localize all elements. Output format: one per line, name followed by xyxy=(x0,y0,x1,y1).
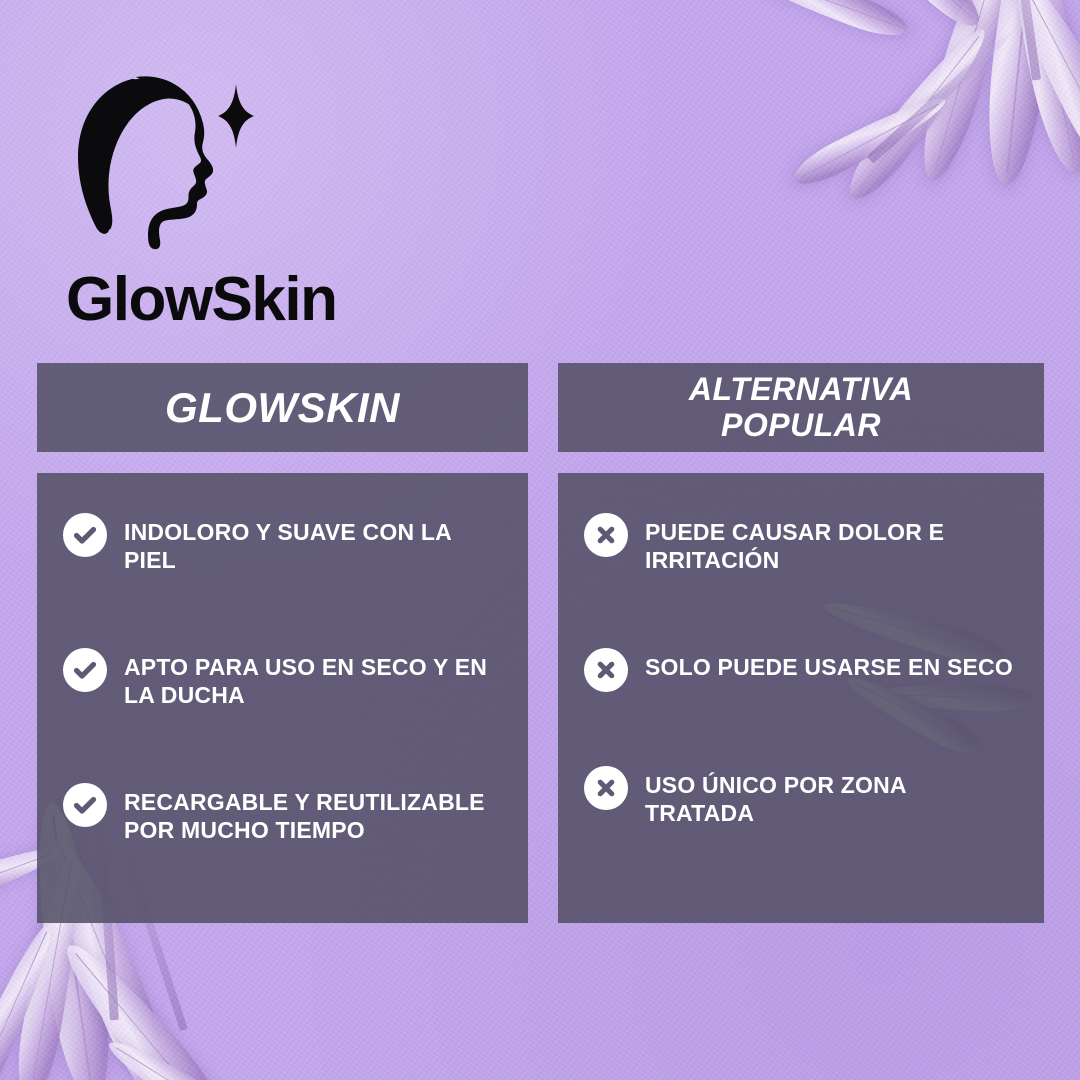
column-header-alternative-line-2: POPULAR xyxy=(689,408,913,444)
botanical-decoration-top-right xyxy=(660,0,1080,370)
column-header-glowskin: GLOWSKIN xyxy=(37,363,528,452)
feature-label: INDOLORO Y SUAVE CON LA PIEL xyxy=(124,515,502,574)
x-icon xyxy=(584,513,628,557)
feature-item: RECARGABLE Y REUTILIZABLE POR MUCHO TIEM… xyxy=(63,785,502,844)
brand-name: GlowSkin xyxy=(66,269,484,331)
feature-list-alternative: PUEDE CAUSAR DOLOR E IRRITACIÓN SOLO PUE… xyxy=(558,473,1044,923)
feature-list-glowskin: INDOLORO Y SUAVE CON LA PIEL APTO PARA U… xyxy=(37,473,528,923)
feature-item: SOLO PUEDE USARSE EN SECO xyxy=(584,650,1018,692)
check-icon xyxy=(63,513,107,557)
feature-item: INDOLORO Y SUAVE CON LA PIEL xyxy=(63,515,502,574)
column-header-alternative: ALTERNATIVA POPULAR xyxy=(558,363,1044,452)
check-icon xyxy=(63,648,107,692)
feature-item: APTO PARA USO EN SECO Y EN LA DUCHA xyxy=(63,650,502,709)
woman-face-profile-sparkle-icon xyxy=(64,72,254,257)
feature-label: PUEDE CAUSAR DOLOR E IRRITACIÓN xyxy=(645,515,1018,574)
comparison-column-glowskin: GLOWSKIN INDOLORO Y SUAVE CON LA PIEL AP… xyxy=(37,363,528,923)
feature-label: USO ÚNICO POR ZONA TRATADA xyxy=(645,768,1018,827)
check-icon xyxy=(63,783,107,827)
column-header-glowskin-label: GLOWSKIN xyxy=(165,384,400,431)
poster-canvas: GlowSkin GLOWSKIN INDOLORO Y SUAVE CON L… xyxy=(0,0,1080,1080)
feature-item: USO ÚNICO POR ZONA TRATADA xyxy=(584,768,1018,827)
feature-item: PUEDE CAUSAR DOLOR E IRRITACIÓN xyxy=(584,515,1018,574)
comparison-column-alternative: ALTERNATIVA POPULAR PUEDE CAUSAR DOLOR E… xyxy=(558,363,1044,923)
feature-label: SOLO PUEDE USARSE EN SECO xyxy=(645,650,1013,681)
brand-block: GlowSkin xyxy=(64,72,484,331)
column-header-alternative-line-1: ALTERNATIVA xyxy=(689,372,913,408)
feature-label: APTO PARA USO EN SECO Y EN LA DUCHA xyxy=(124,650,502,709)
x-icon xyxy=(584,766,628,810)
feature-label: RECARGABLE Y REUTILIZABLE POR MUCHO TIEM… xyxy=(124,785,502,844)
x-icon xyxy=(584,648,628,692)
column-header-alternative-label: ALTERNATIVA POPULAR xyxy=(689,372,913,444)
